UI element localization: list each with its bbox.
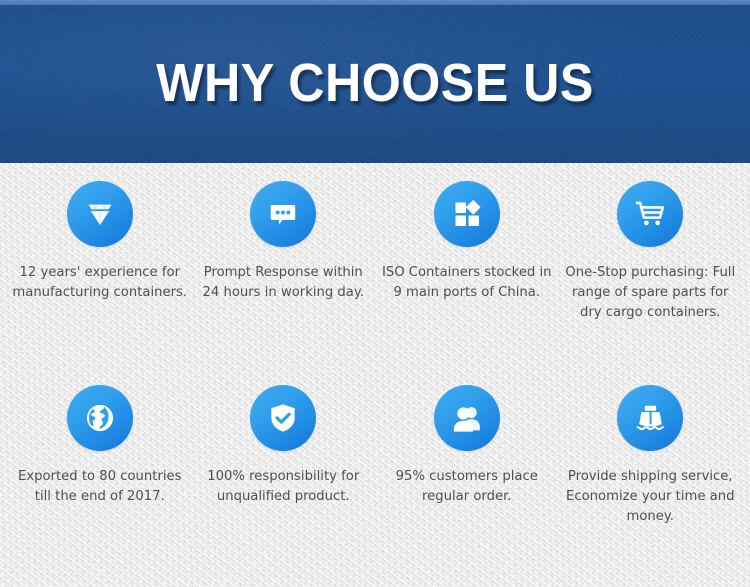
grid-blocks-icon <box>451 198 483 230</box>
feature-caption-2: Prompt Response within 24 hours in worki… <box>195 263 371 303</box>
feature-item-4: One-Stop purchasing: Full range of spare… <box>559 163 743 367</box>
feature-item-8: Provide shipping service, Economize your… <box>559 367 743 571</box>
feature-caption-3: ISO Containers stocked in 9 main ports o… <box>379 263 555 303</box>
feature-icon-badge-8 <box>617 385 683 451</box>
page-title: WHY CHOOSE US <box>26 52 724 114</box>
feature-caption-8: Provide shipping service, Economize your… <box>562 467 738 527</box>
feature-item-1: 12 years' experience for manufacturing c… <box>8 163 192 367</box>
why-choose-us-page: WHY CHOOSE US 12 years' experi <box>0 0 750 587</box>
feature-icon-badge-4 <box>617 181 683 247</box>
features-grid: 12 years' experience for manufacturing c… <box>0 163 750 571</box>
chat-bubble-icon <box>266 197 300 231</box>
globe-icon <box>83 401 117 435</box>
shopping-cart-icon <box>633 197 667 231</box>
banner-top-strip <box>0 0 750 5</box>
feature-item-7: 95% customers place regular order. <box>375 367 559 571</box>
feature-icon-badge-6 <box>250 385 316 451</box>
feature-icon-badge-5 <box>67 385 133 451</box>
shield-check-icon <box>266 401 300 435</box>
ship-icon <box>633 401 668 436</box>
feature-item-2: Prompt Response within 24 hours in worki… <box>192 163 376 367</box>
feature-icon-badge-7 <box>434 385 500 451</box>
users-group-icon <box>449 401 484 436</box>
feature-icon-badge-3 <box>434 181 500 247</box>
feature-icon-badge-2 <box>250 181 316 247</box>
feature-icon-badge-1 <box>67 181 133 247</box>
page-banner: WHY CHOOSE US <box>0 0 750 163</box>
feature-caption-4: One-Stop purchasing: Full range of spare… <box>562 263 738 323</box>
feature-caption-1: 12 years' experience for manufacturing c… <box>12 263 188 303</box>
features-section: 12 years' experience for manufacturing c… <box>0 163 750 587</box>
feature-item-5: Exported to 80 countries till the end of… <box>8 367 192 571</box>
feature-caption-6: 100% responsibility for unqualified prod… <box>195 467 371 507</box>
feature-caption-7: 95% customers place regular order. <box>379 467 555 507</box>
feature-caption-5: Exported to 80 countries till the end of… <box>12 467 188 507</box>
feature-item-6: 100% responsibility for unqualified prod… <box>192 367 376 571</box>
diamond-icon <box>83 197 117 231</box>
feature-item-3: ISO Containers stocked in 9 main ports o… <box>375 163 559 367</box>
